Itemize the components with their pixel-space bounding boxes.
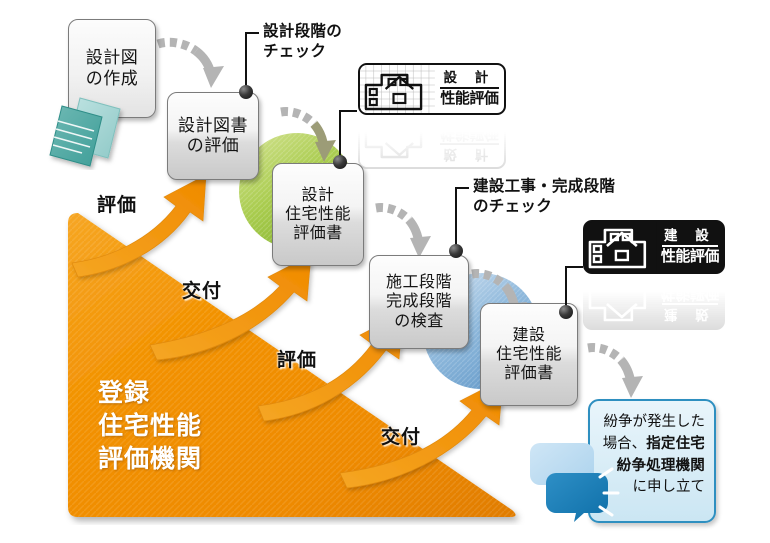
flow-label-issue-1: 交付: [182, 276, 222, 303]
box-design-document-evaluation[interactable]: 設計図書 の評価: [167, 92, 259, 180]
box-design-document-evaluation-label: 設計図書 の評価: [178, 116, 248, 157]
box-design-performance-report[interactable]: 設計 住宅性能 評価書: [272, 163, 364, 266]
callout-design-stage-check: 設計段階の チェック: [263, 22, 342, 62]
diagram-canvas: 登録 住宅性能 評価機関: [0, 0, 770, 538]
construction-mark-top-text: 建 設: [661, 229, 719, 244]
construction-mark-connector-stub: [565, 266, 583, 268]
box-design-performance-report-label: 設計 住宅性能 評価書: [285, 186, 351, 244]
callout-1-dot: [239, 85, 253, 99]
callout-2-stub: [455, 187, 469, 189]
design-mark-connector-line: [339, 110, 341, 158]
design-mark-top-text: 設 計: [439, 71, 500, 86]
construction-mark-connector-line: [565, 266, 567, 308]
flow-label-evaluation-2: 評価: [277, 345, 317, 372]
flow-label-evaluation-1: 評価: [97, 190, 137, 217]
house-building-icon: [585, 222, 657, 272]
construction-evaluation-mark: 建 設 性能評価 建 設: [583, 220, 725, 274]
dispute-line-2-bold: 指定住宅: [646, 436, 705, 452]
house-on-grid-icon: [360, 65, 435, 113]
callout-1-line: [245, 32, 247, 88]
box-construction-inspection[interactable]: 施工段階 完成段階 の検査: [369, 255, 469, 349]
callout-2-line: [455, 187, 457, 247]
gray-arrow-5: [588, 348, 643, 398]
document-stack-icon: [46, 92, 132, 170]
callout-2-line-2: のチェック: [473, 197, 615, 217]
callout-1-stub: [245, 32, 259, 34]
callout-1-line-2: チェック: [263, 42, 342, 62]
box-construction-performance-report-label: 建設 住宅性能 評価書: [496, 326, 562, 384]
gray-arrow-3: [376, 208, 431, 258]
callout-2-dot: [449, 244, 463, 258]
flow-label-issue-2: 交付: [381, 422, 421, 449]
construction-mark-bottom-text: 性能評価: [661, 249, 719, 265]
design-evaluation-mark: 設 計 性能評価 設 計: [358, 63, 506, 115]
construction-mark-dot: [559, 305, 573, 319]
design-mark-rule: [440, 87, 499, 89]
conflict-bubbles-icon: [528, 435, 638, 530]
gray-arrow-2: [281, 112, 336, 162]
design-mark-connector-stub: [339, 110, 357, 112]
construction-mark-rule: [662, 245, 718, 247]
design-mark-bottom-text: 性能評価: [439, 91, 500, 107]
dispute-line-1: 紛争が発生した: [601, 412, 705, 434]
callout-2-line-1: 建設工事・完成段階: [473, 177, 615, 197]
callout-construction-stage-check: 建設工事・完成段階 のチェック: [473, 177, 615, 217]
gray-arrow-1: [158, 42, 224, 88]
box-design-drawing-label: 設計図 の作成: [86, 48, 139, 89]
design-mark-dot: [333, 155, 347, 169]
box-construction-inspection-label: 施工段階 完成段階 の検査: [386, 273, 452, 331]
callout-1-line-1: 設計段階の: [263, 22, 342, 42]
